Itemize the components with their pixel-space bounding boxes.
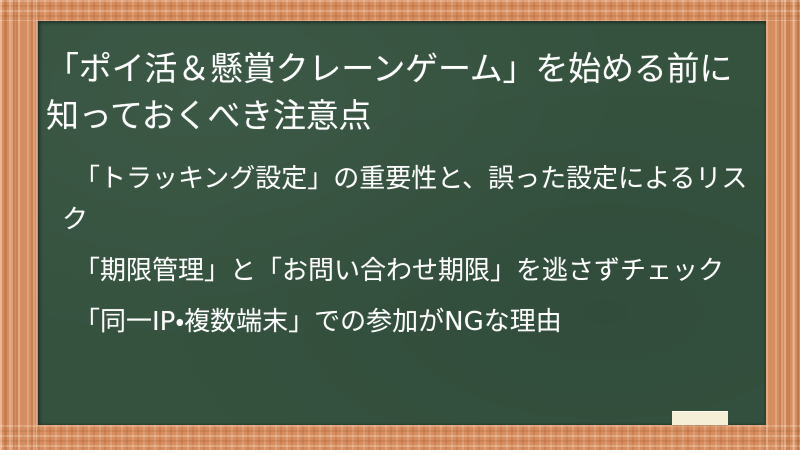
bullet-list: 「トラッキング設定」の重要性と、誤った設定によるリスク 「期限管理」と「お問い合…: [62, 159, 762, 353]
chalk-stick: [672, 411, 728, 425]
frame-right-rail: [766, 0, 800, 450]
blackboard-slide: 「ポイ活＆懸賞クレーンゲーム」を始める前に知っておくべき注意点 「トラッキング設…: [0, 0, 800, 450]
chalkboard-surface: 「ポイ活＆懸賞クレーンゲーム」を始める前に知っておくべき注意点 「トラッキング設…: [38, 21, 766, 425]
bullet-item-1: 「トラッキング設定」の重要性と、誤った設定によるリスク: [62, 159, 762, 241]
frame-bottom-rail: [0, 425, 800, 450]
bullet-item-2: 「期限管理」と「お問い合わせ期限」を逃さずチェック: [62, 251, 762, 292]
frame-left-rail: [0, 0, 37, 450]
bullet-item-3: 「同一IP・複数端末」での参加がNGな理由: [62, 302, 762, 343]
frame-top-rail: [0, 0, 800, 21]
slide-title: 「ポイ活＆懸賞クレーンゲーム」を始める前に知っておくべき注意点: [46, 45, 762, 139]
